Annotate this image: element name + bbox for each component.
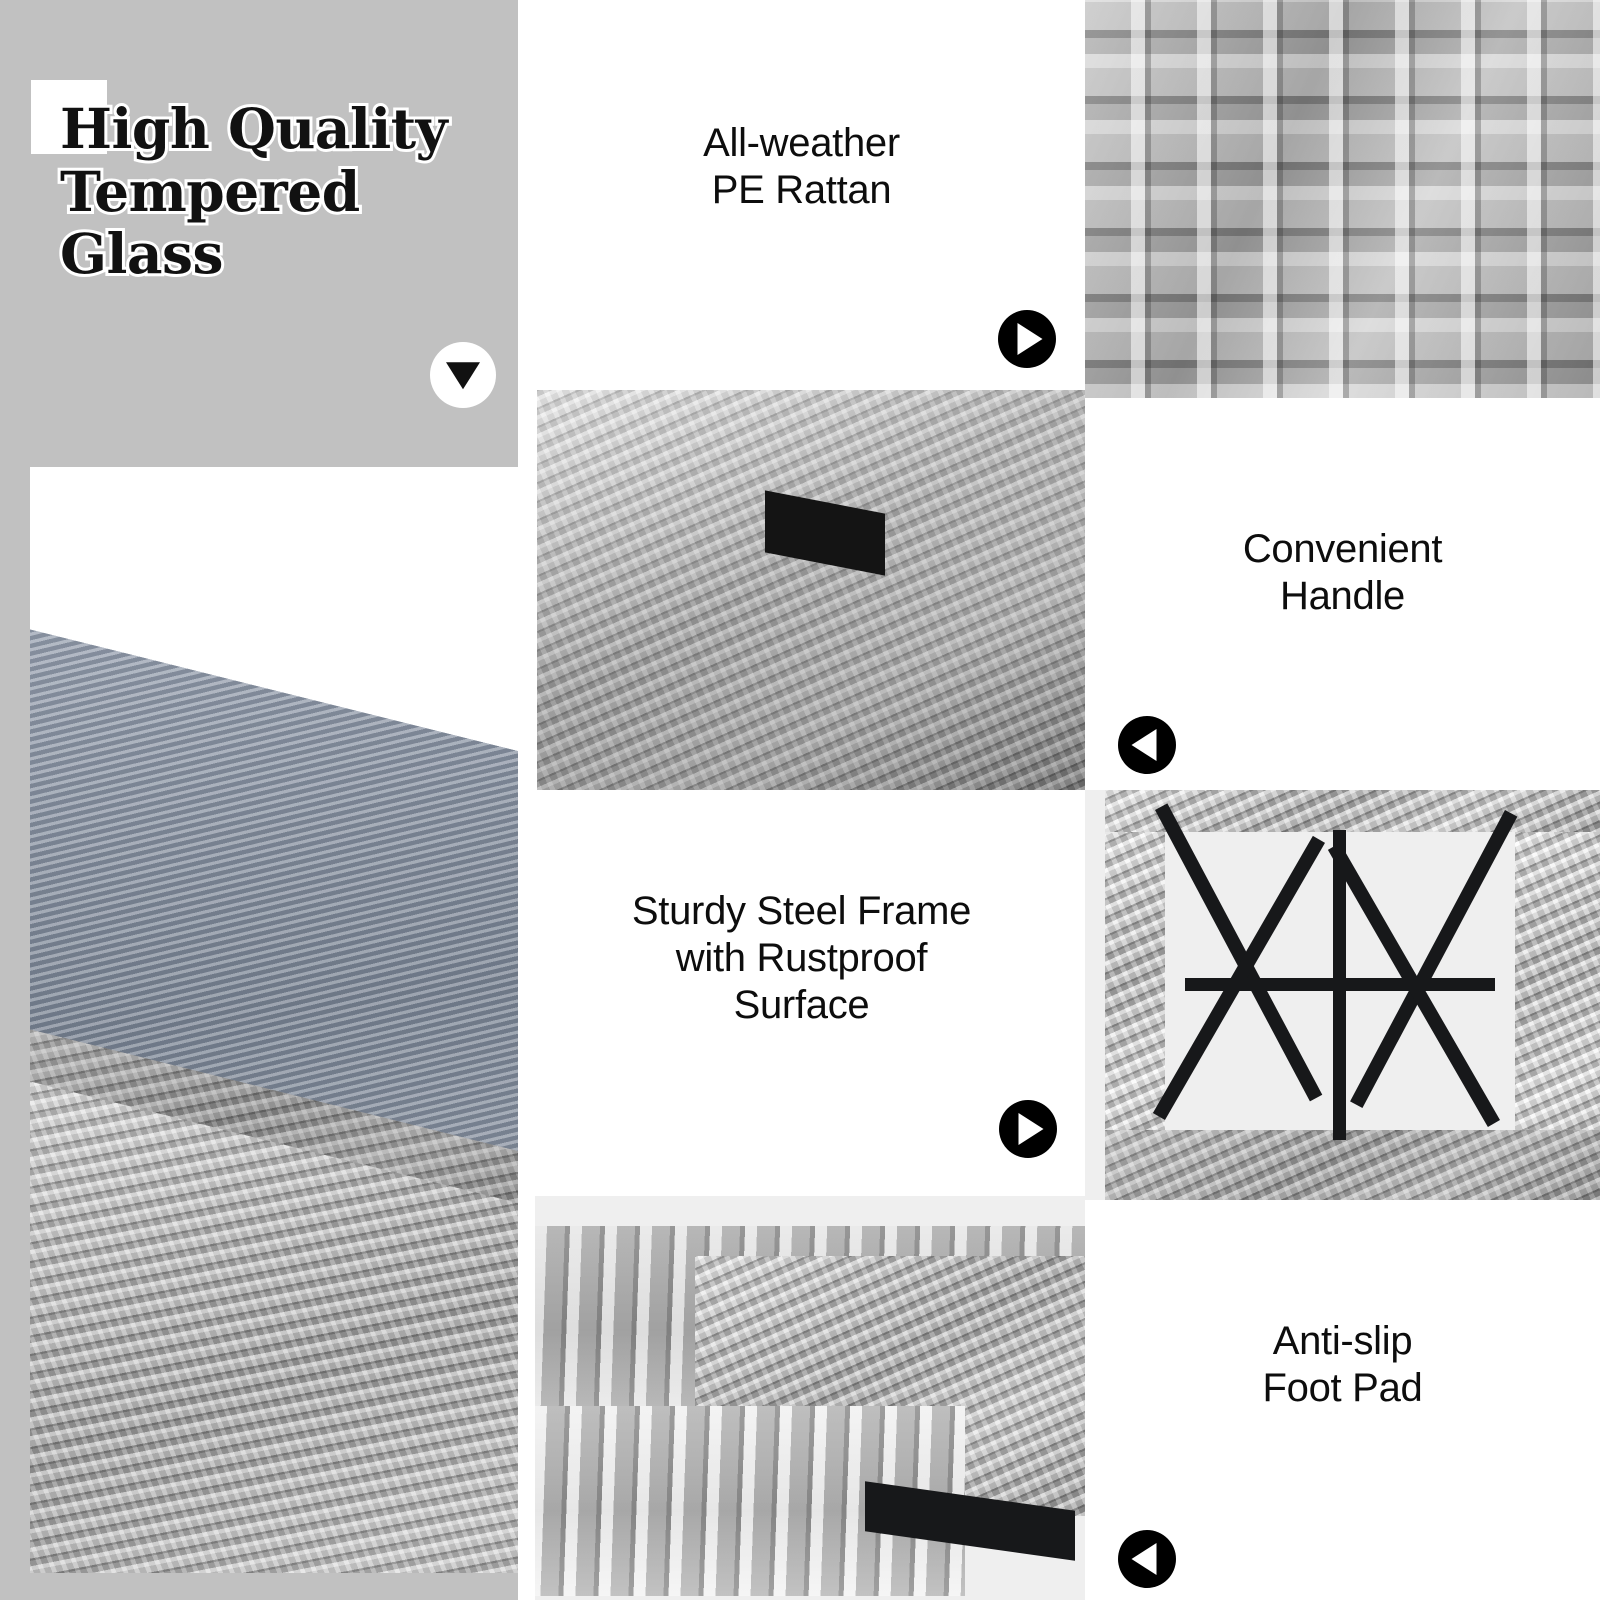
gutter-left-of-footpad (518, 1196, 535, 1600)
feature-card-convenient-handle: Convenient Handle (1085, 398, 1600, 790)
triangle-right-icon-all-weather[interactable] (998, 310, 1056, 368)
triangle-right-icon-steel-frame[interactable] (999, 1100, 1057, 1158)
triangle-left-glyph (1131, 729, 1156, 761)
feature-caption-convenient-handle: Convenient Handle (1085, 526, 1600, 620)
photo-steel-frame (1085, 790, 1600, 1200)
photo-tempered-glass-table (30, 467, 518, 1573)
triangle-right-glyph (1019, 1113, 1044, 1145)
photo-foot-pad (535, 1196, 1085, 1600)
steel-brace-diagonal-2 (1350, 810, 1517, 1108)
frame-rattan-bottom (1105, 1130, 1600, 1200)
infographic-canvas: High Quality Tempered Glass All-weather … (0, 0, 1600, 1600)
feature-card-anti-slip-foot-pad: Anti-slip Foot Pad (1085, 1200, 1600, 1600)
feature-card-sturdy-steel-frame: Sturdy Steel Frame with Rustproof Surfac… (518, 790, 1085, 1196)
feature-caption-all-weather-pe-rattan: All-weather PE Rattan (518, 120, 1085, 214)
feature-card-all-weather-pe-rattan: All-weather PE Rattan (518, 0, 1085, 390)
handle-photo-shading (537, 390, 1085, 790)
triangle-left-icon-foot-pad[interactable] (1118, 1530, 1176, 1588)
photo-rattan-swatch (1085, 0, 1600, 398)
steel-brace-vertical (1333, 830, 1346, 1140)
steel-brace-diagonal-1 (1155, 803, 1322, 1101)
photo-handle (537, 390, 1085, 790)
triangle-right-glyph (1018, 323, 1043, 355)
triangle-left-icon-handle[interactable] (1118, 716, 1176, 774)
triangle-down-glyph (446, 362, 480, 389)
feature-caption-sturdy-steel-frame: Sturdy Steel Frame with Rustproof Surfac… (518, 888, 1085, 1030)
triangle-left-glyph (1131, 1543, 1156, 1575)
gutter-left-of-handle (518, 390, 537, 790)
page-title: High Quality Tempered Glass (60, 98, 500, 286)
feature-caption-anti-slip-foot-pad: Anti-slip Foot Pad (1085, 1318, 1600, 1412)
triangle-down-icon[interactable] (430, 342, 496, 408)
